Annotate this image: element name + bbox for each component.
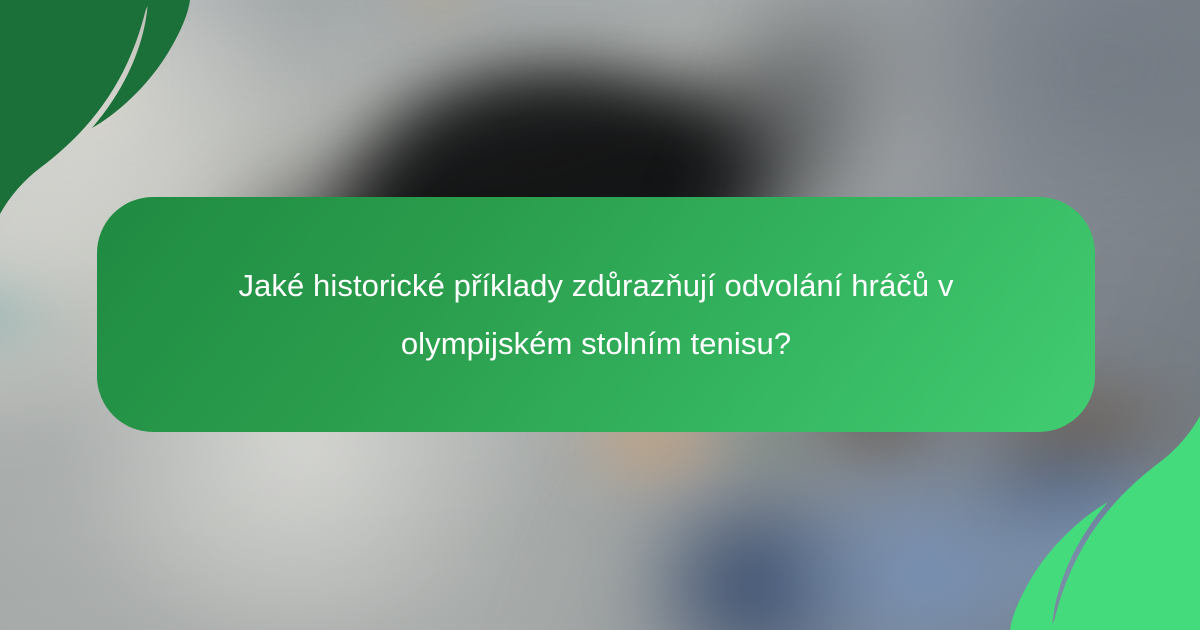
share-card-canvas: Jaké historické příklady zdůrazňují odvo… xyxy=(0,0,1200,630)
question-text: Jaké historické příklady zdůrazňují odvo… xyxy=(206,257,986,373)
question-card: Jaké historické příklady zdůrazňují odvo… xyxy=(97,197,1095,432)
